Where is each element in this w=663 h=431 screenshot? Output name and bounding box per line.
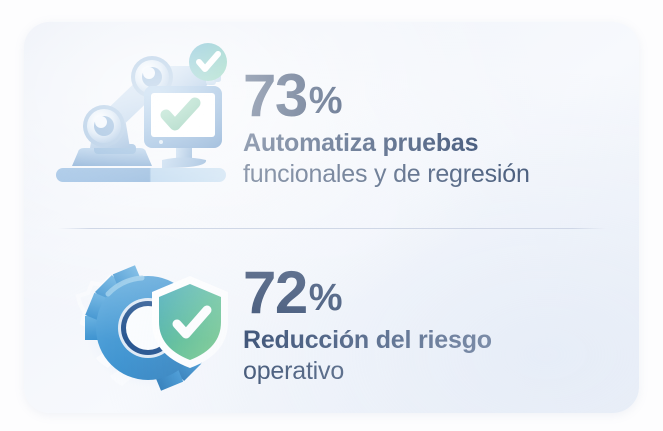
stat-text-cell-automation: 73% Automatiza pruebas funcionales y de … — [239, 67, 639, 190]
stat-row-risk: 72% Reducción del riesgo operativo — [24, 230, 639, 413]
stat-number-digits: 73 — [243, 62, 307, 129]
stat-value-automation: 73% — [243, 67, 639, 125]
robot-arm-monitor-check-icon — [48, 40, 238, 215]
stat-card-infographic: 73% Automatiza pruebas funcionales y de … — [0, 0, 663, 431]
gear-shield-check-icon — [48, 236, 243, 411]
stat-label-line2-automation: funcionales y de regresión — [243, 159, 639, 190]
stat-row-automation: 73% Automatiza pruebas funcionales y de … — [24, 30, 639, 226]
stat-percent-symbol: % — [309, 277, 342, 319]
stats-card: 73% Automatiza pruebas funcionales y de … — [24, 22, 639, 413]
stat-text-cell-risk: 72% Reducción del riesgo operativo — [239, 264, 639, 387]
stat-label-line1-risk: Reducción del riesgo — [243, 325, 639, 356]
section-divider — [58, 228, 606, 229]
stat-label-line2-risk: operativo — [243, 356, 639, 387]
stat-icon-cell-automation — [24, 30, 239, 226]
stat-percent-symbol: % — [309, 80, 342, 122]
stat-label-line1-automation: Automatiza pruebas — [243, 128, 639, 159]
stat-number-digits: 72 — [243, 259, 307, 326]
stat-value-risk: 72% — [243, 264, 639, 322]
stat-icon-cell-risk — [24, 230, 239, 413]
